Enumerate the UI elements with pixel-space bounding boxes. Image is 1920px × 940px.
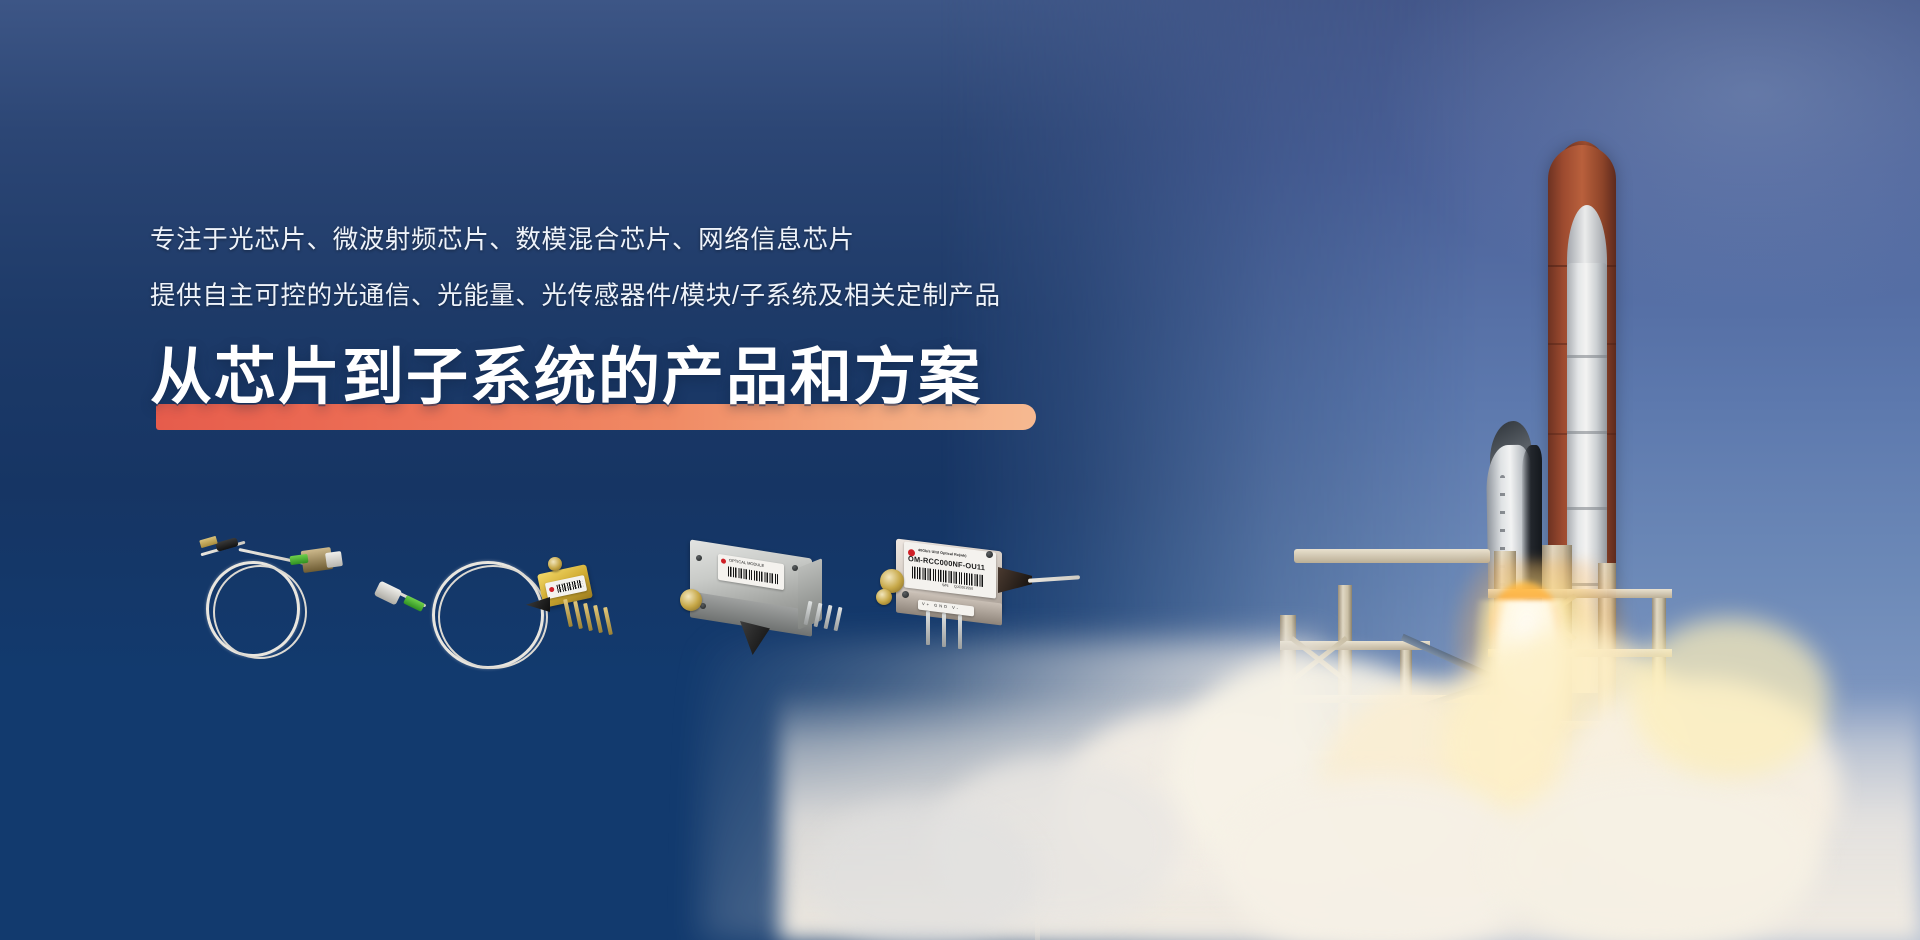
subtitle-line-2: 提供自主可控的光通信、光能量、光传感器件/模块/子系统及相关定制产品 (150, 284, 1150, 310)
subtitle-line-1: 专注于光芯片、微波射频芯片、数模混合芯片、网络信息芯片 (150, 228, 1150, 254)
hero-banner: 专注于光芯片、微波射频芯片、数模混合芯片、网络信息芯片 提供自主可控的光通信、光… (0, 0, 1920, 940)
product-rf-optical-module-box: OPTICAL MODULE (680, 545, 860, 660)
module-serial-prefix: S/N: (942, 583, 949, 588)
product-showcase-row: OPTICAL MODULE 40Gb/s Ultd Optical Rx(wk… (180, 525, 1080, 660)
srb-band (1567, 431, 1607, 434)
hero-copy: 专注于光芯片、微波射频芯片、数模混合芯片、网络信息芯片 提供自主可控的光通信、光… (150, 228, 1150, 443)
headline-wrap: 从芯片到子系统的产品和方案 (150, 347, 1150, 443)
product-fiber-pigtail-assembly (180, 525, 390, 660)
srb-band (1567, 355, 1607, 358)
product-optical-receiver-module: 40Gb/s Ultd Optical Rx(wk) OM-RCC000NF-O… (870, 539, 1080, 661)
page-title: 从芯片到子系统的产品和方案 (150, 347, 1150, 409)
srb-band (1567, 507, 1607, 510)
product-butterfly-laser-module (370, 533, 630, 663)
